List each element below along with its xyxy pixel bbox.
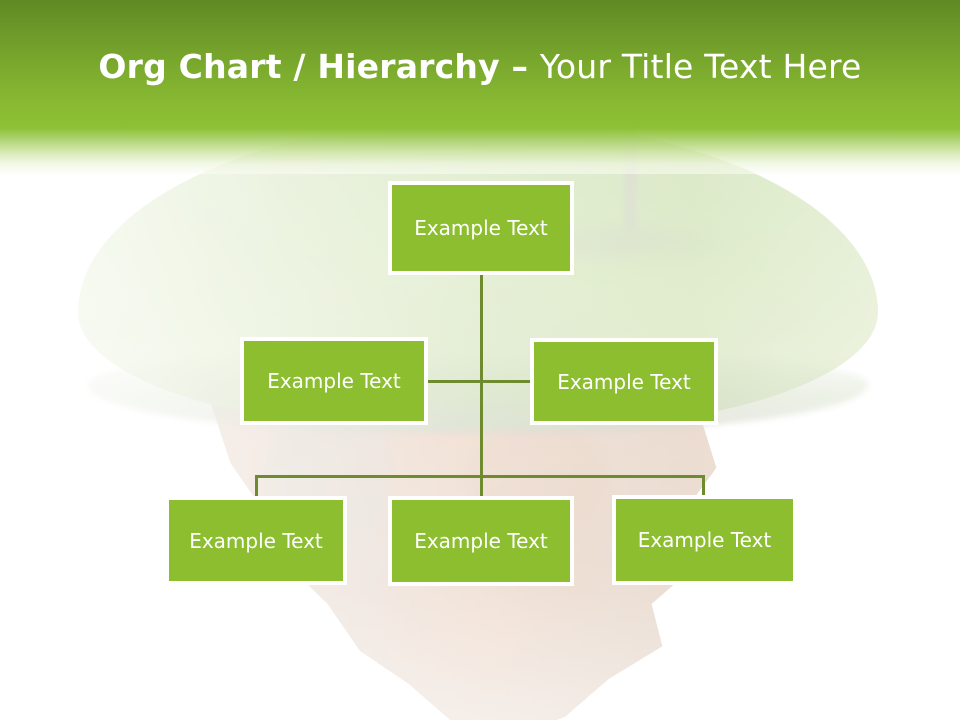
node-label: Example Text <box>169 529 343 553</box>
node-level3-middle[interactable]: Example Text <box>388 496 574 586</box>
node-level3-left[interactable]: Example Text <box>165 496 347 585</box>
header-fade <box>0 128 960 174</box>
title-dash: – <box>500 47 540 86</box>
node-root[interactable]: Example Text <box>388 181 574 275</box>
node-label: Example Text <box>244 369 424 393</box>
node-label: Example Text <box>616 528 793 552</box>
node-level2-left[interactable]: Example Text <box>240 337 428 425</box>
node-label: Example Text <box>392 529 570 553</box>
connector-leg-left <box>255 475 258 496</box>
node-label: Example Text <box>392 216 570 240</box>
node-level2-right[interactable]: Example Text <box>530 338 718 425</box>
slide: Example Text Example Text Example Text E… <box>0 0 960 720</box>
connector-leg-right <box>702 475 705 496</box>
connector-level2-horizontal <box>428 380 530 383</box>
title-bold-part: Org Chart / Hierarchy <box>98 47 499 86</box>
node-label: Example Text <box>534 370 714 394</box>
connector-root-down <box>480 275 483 337</box>
node-level3-right[interactable]: Example Text <box>612 495 797 585</box>
page-title: Org Chart / Hierarchy – Your Title Text … <box>0 47 960 87</box>
title-light-part: Your Title Text Here <box>540 47 862 86</box>
connector-leg-middle <box>480 475 483 496</box>
connector-trunk-lower <box>480 337 483 476</box>
